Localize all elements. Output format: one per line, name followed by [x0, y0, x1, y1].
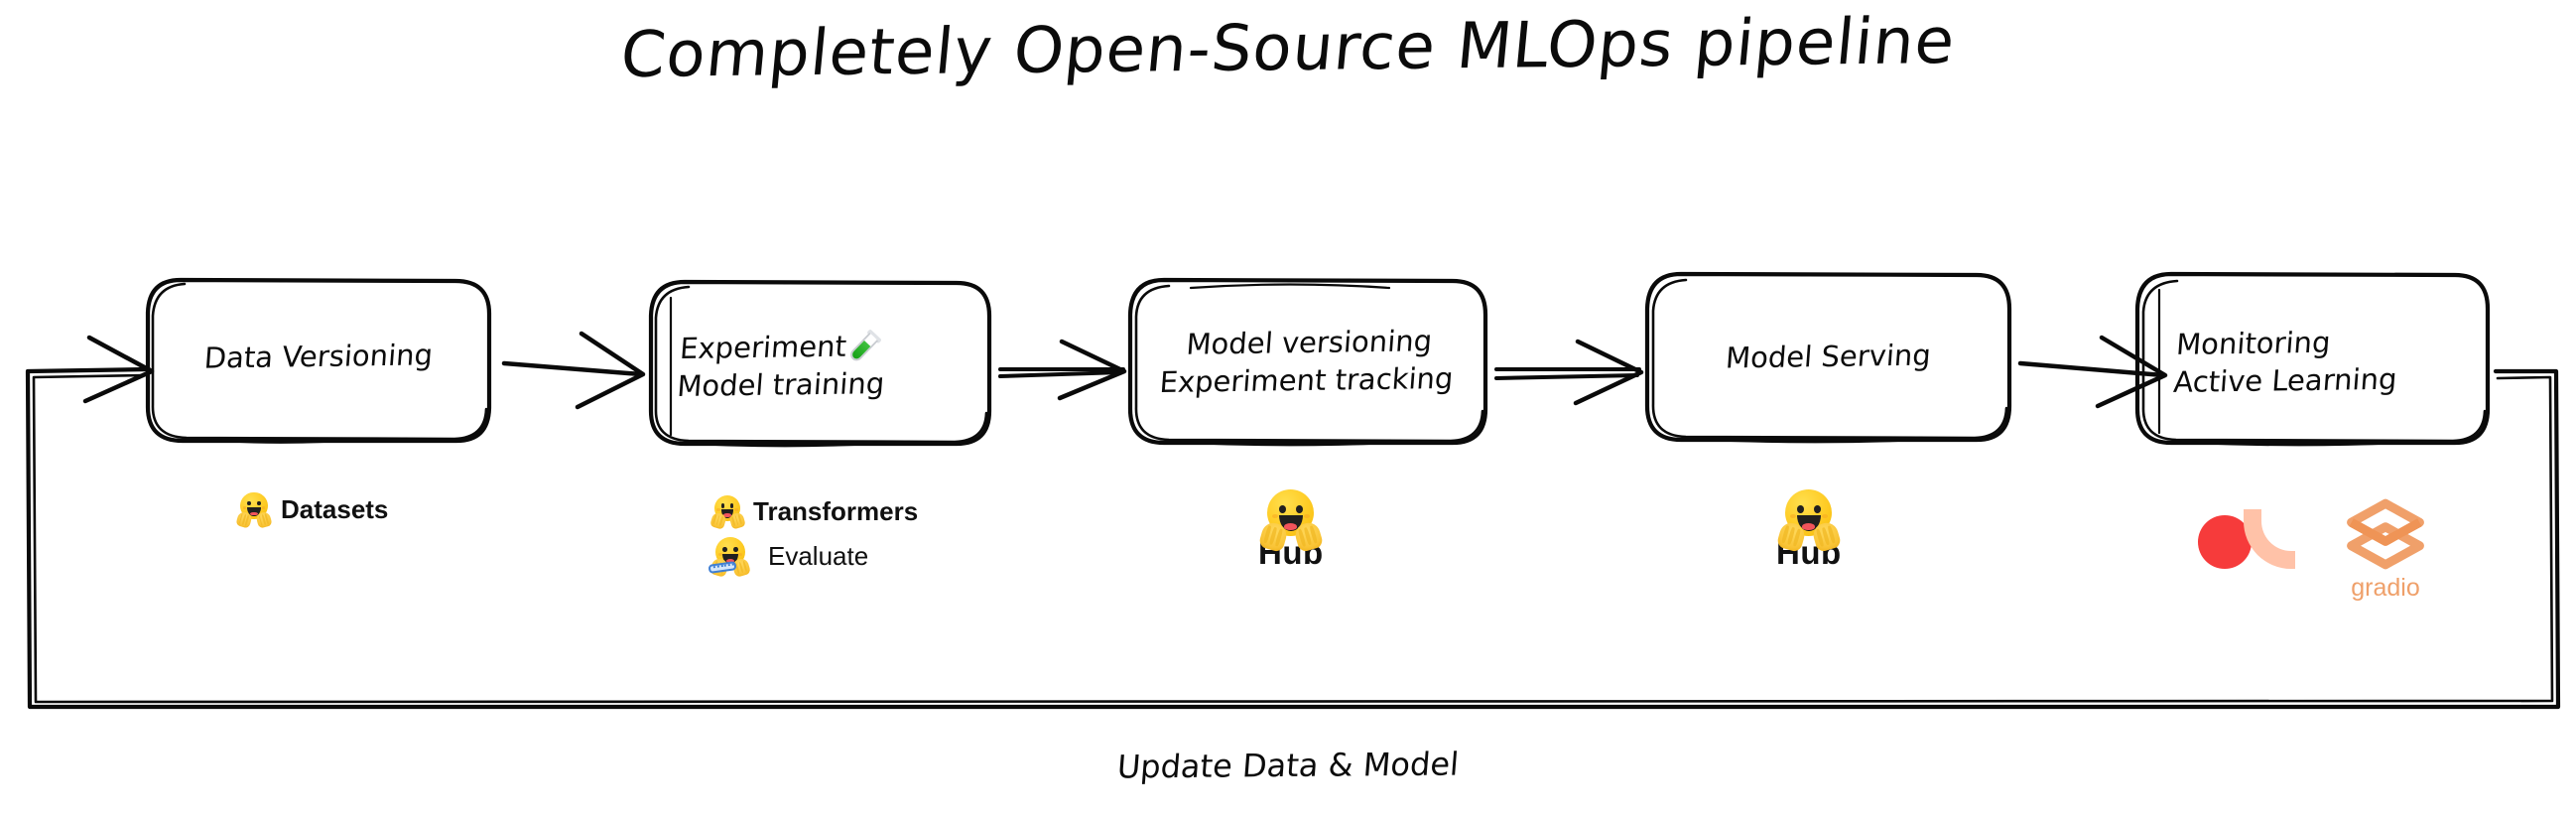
tool-label: Datasets [281, 494, 388, 525]
tool-transformers[interactable]: Transformers [710, 494, 918, 528]
tool-hub-model-serving[interactable]: Hub [1776, 488, 1842, 572]
page-title: Completely Open-Source MLOps pipeline [0, 0, 2576, 99]
tool-group-experiment: Transformers Evaluate [710, 494, 918, 576]
argilla-swoosh [2244, 509, 2295, 569]
huggingface-evaluate-icon [710, 536, 750, 576]
huggingface-icon [236, 491, 272, 527]
tool-evaluate[interactable]: Evaluate [710, 536, 918, 576]
node-box-model-versioning [1130, 280, 1485, 445]
node-line-2: Model training [676, 363, 989, 405]
arrow-data-versioning-to-experiment [504, 334, 643, 407]
tool-group-data-versioning: Datasets [236, 491, 388, 527]
huggingface-icon [710, 494, 744, 528]
tool-datasets[interactable]: Datasets [236, 491, 388, 527]
tool-hub-model-versioning[interactable]: Hub [1258, 488, 1324, 572]
node-line-1: Experiment [679, 326, 992, 367]
node-label-data-versioning: Data Versioning [146, 336, 490, 378]
node-label-model-serving: Model Serving [1645, 335, 2010, 377]
experiment-text: Experiment [679, 330, 847, 365]
huggingface-hub-icon [1260, 488, 1322, 550]
tool-label: Transformers [753, 496, 918, 527]
huggingface-hub-icon [1778, 488, 1840, 550]
node-box-experiment-model-training [651, 282, 989, 446]
loop-caption: Update Data & Model [0, 736, 2576, 796]
node-line-2: Active Learning [2172, 359, 2488, 401]
node-line-1: Model versioning [1130, 322, 1488, 364]
arrow-model-versioning-to-model-serving [1496, 342, 1641, 403]
node-box-data-versioning [148, 280, 489, 443]
test-tube-icon [847, 333, 878, 363]
node-line-1: Data Versioning [146, 336, 490, 378]
arrow-model-serving-to-monitoring [2020, 338, 2165, 406]
node-line-2: Experiment tracking [1127, 359, 1485, 402]
tool-gradio[interactable]: gradio [2340, 496, 2431, 603]
tool-label: Evaluate [768, 541, 868, 572]
node-box-model-serving [1647, 274, 2009, 442]
node-line-1: Monitoring [2175, 322, 2491, 363]
tool-label: gradio [2351, 574, 2420, 603]
node-box-monitoring-active-learning [2137, 274, 2488, 445]
node-label-monitoring-active-learning: Monitoring Active Learning [2134, 322, 2491, 402]
arrow-experiment-to-model-versioning [1000, 342, 1124, 398]
node-line-1: Model Serving [1645, 335, 2010, 377]
diagram-canvas: Completely Open-Source MLOps pipeline [0, 0, 2576, 822]
sketch-layer [0, 0, 2576, 822]
node-label-model-versioning: Model versioning Experiment tracking [1127, 322, 1488, 402]
argilla-icon[interactable] [2198, 511, 2295, 573]
node-label-experiment-model-training: Experiment Model training [652, 326, 992, 406]
gradio-icon [2340, 496, 2431, 572]
